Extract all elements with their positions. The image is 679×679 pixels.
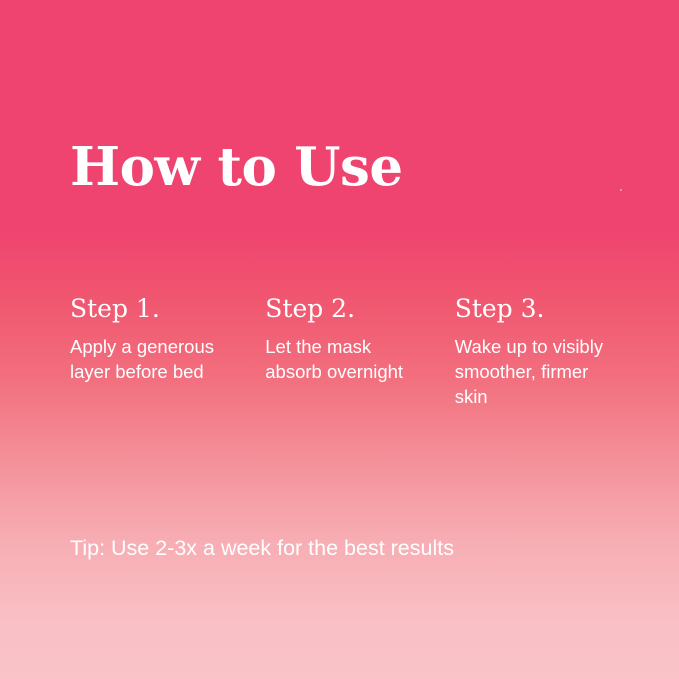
step-3-line-2: smoother, firmer — [455, 361, 589, 382]
step-3-line-3: skin — [455, 386, 488, 407]
step-3-label: Step 3. — [455, 296, 630, 322]
step-item-2: Step 2. Let the maskabsorb overnight — [265, 296, 454, 384]
step-1-line-1: Apply a generous — [70, 336, 214, 357]
step-2-label: Step 2. — [265, 296, 436, 322]
step-3-description: Wake up to visiblysmoother, firmerskin — [455, 334, 630, 409]
how-to-use-infographic: How to Use Step 1. Apply a generouslayer… — [0, 0, 679, 679]
step-2-description: Let the maskabsorb overnight — [265, 334, 436, 384]
step-3-line-1: Wake up to visibly — [455, 336, 603, 357]
step-2-line-1: Let the mask — [265, 336, 371, 357]
step-item-3: Step 3. Wake up to visiblysmoother, firm… — [455, 296, 630, 409]
step-1-label: Step 1. — [70, 296, 247, 322]
step-item-1: Step 1. Apply a generouslayer before bed — [70, 296, 265, 384]
step-1-line-2: layer before bed — [70, 361, 204, 382]
dust-speck-artifact — [620, 189, 622, 191]
usage-tip: Tip: Use 2-3x a week for the best result… — [70, 535, 454, 562]
step-1-description: Apply a generouslayer before bed — [70, 334, 247, 384]
page-title: How to Use — [70, 139, 403, 196]
steps-row: Step 1. Apply a generouslayer before bed… — [70, 296, 630, 409]
step-2-line-2: absorb overnight — [265, 361, 403, 382]
